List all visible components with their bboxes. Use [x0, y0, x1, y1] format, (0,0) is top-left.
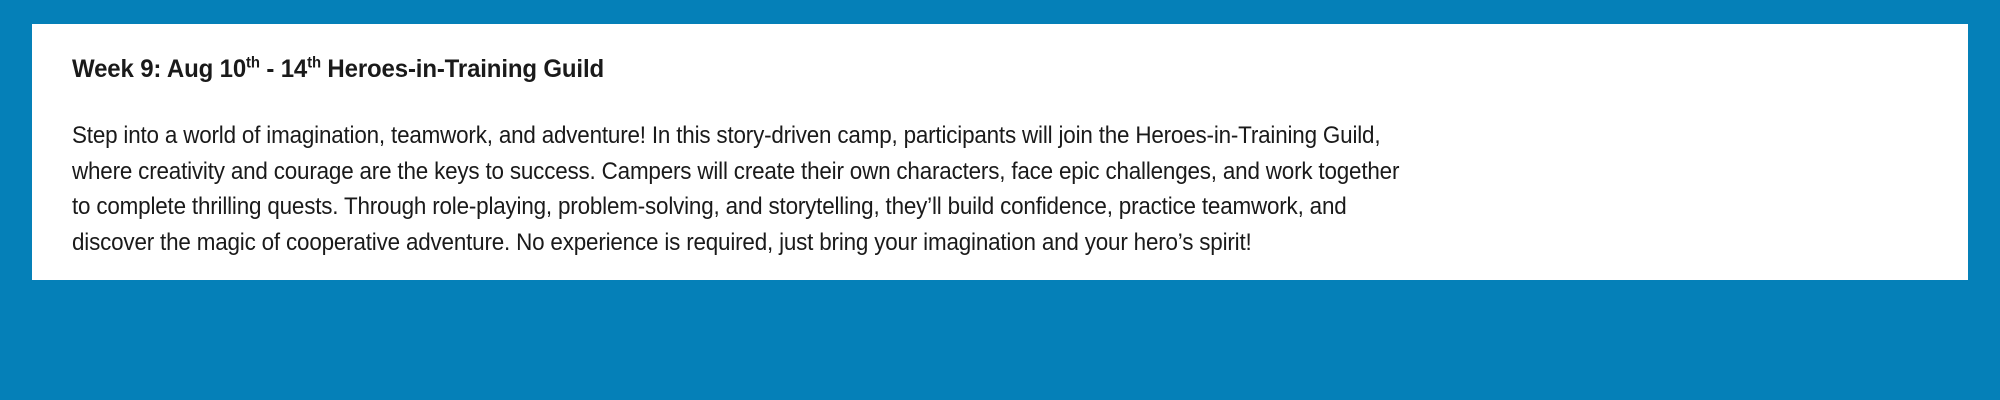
content-card: Week 9: Aug 10th - 14th Heroes-in-Traini… — [32, 24, 1968, 280]
description-line: discover the magic of cooperative advent… — [72, 225, 1928, 261]
title-week-date-prefix: Week 9: Aug 10 — [72, 55, 246, 83]
description-line: Step into a world of imagination, teamwo… — [72, 118, 1928, 154]
description-line: to complete thrilling quests. Through ro… — [72, 189, 1928, 225]
page-title: Week 9: Aug 10th - 14th Heroes-in-Traini… — [72, 54, 1854, 84]
description-paragraph: Step into a world of imagination, teamwo… — [72, 118, 1928, 260]
page-background: Week 9: Aug 10th - 14th Heroes-in-Traini… — [0, 0, 2000, 400]
heading-body-spacer — [72, 84, 1928, 118]
title-date-separator: - 14 — [260, 55, 307, 83]
description-line: where creativity and courage are the key… — [72, 154, 1928, 190]
title-ordinal-suffix-end: th — [307, 55, 321, 72]
title-program-name: Heroes-in-Training Guild — [321, 55, 604, 83]
title-ordinal-suffix-start: th — [246, 55, 260, 72]
